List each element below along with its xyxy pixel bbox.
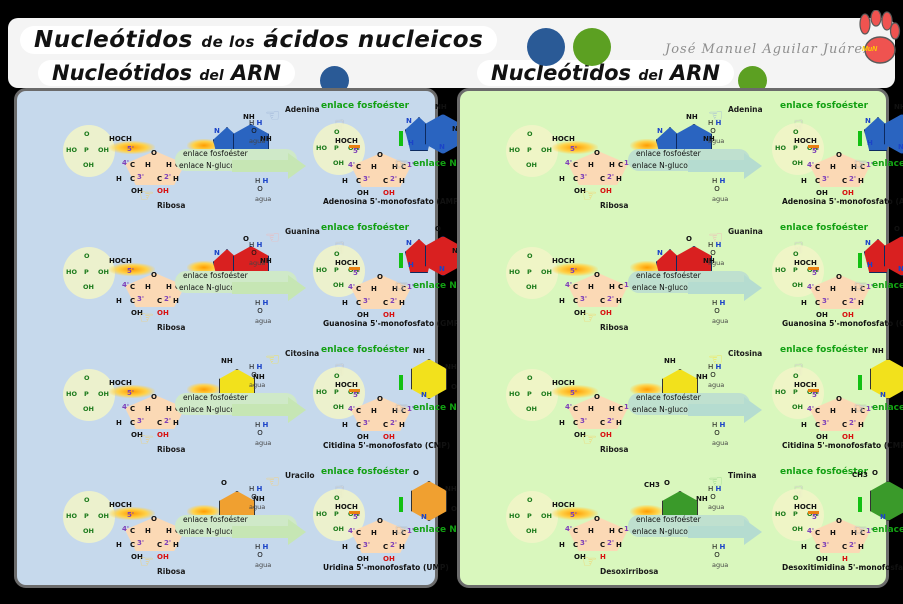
left-title-word1: Nucleótidos: [52, 61, 192, 85]
sugar-name-label: Ribosa: [600, 201, 628, 210]
pointer-hand-icon: ☞: [139, 187, 154, 204]
reaction-arrow: [232, 275, 306, 301]
pointer-hand-icon: ☞: [582, 553, 597, 570]
reaction-arrow: [232, 519, 306, 545]
base-name-label: Citosina: [728, 349, 762, 358]
reaction-arrow: [232, 397, 306, 423]
sugar-name-label: Ribosa: [157, 567, 185, 576]
poster-canvas: { "header": { "title_main_1": "Nucleótid…: [0, 0, 903, 604]
white-hand-icon: ☞: [395, 157, 408, 172]
n-glucosidic-bond-mark: [858, 131, 862, 146]
white-hand-icon: ☞: [854, 523, 867, 538]
sugar-name-label: Ribosa: [600, 445, 628, 454]
legend-dot-blue: [527, 28, 565, 66]
base-name-label: Adenina: [728, 105, 763, 114]
reaction-arrow: [688, 275, 762, 301]
product-bond-nglucosidic-label: enlace N-glucosídico: [872, 403, 903, 413]
white-hand-icon: ☞: [854, 157, 867, 172]
author-signature: José Manuel Aguilar Juárez: [665, 42, 871, 57]
product-name-label: Guanosina 5'-monofosfato (GMP): [782, 319, 903, 328]
product-name-label: Guanosina 5'-monofosfato (GMP): [323, 319, 463, 328]
product-bond-nglucosidic-label: enlace N-glucosídico: [872, 525, 903, 535]
reaction-arrow: [232, 153, 306, 179]
right-title-word1: Nucleótidos: [491, 61, 631, 85]
white-hand-icon: ☞: [395, 401, 408, 416]
n-glucosidic-bond-mark: [858, 375, 862, 390]
product-bond-phosphoester-label: enlace fosfoéster: [321, 101, 409, 111]
right-title-word2: del: [638, 68, 662, 84]
sugar-name-label: Ribosa: [157, 323, 185, 332]
white-hand-icon: ☞: [854, 279, 867, 294]
base-name-label: Adenina: [285, 105, 320, 114]
panel-right-arn: OHOPOHOHHOCH5'O4'CHHC1'HC3'C2'HOHOH☞Ribo…: [457, 88, 889, 588]
n-glucosidic-bond-mark: [399, 253, 403, 268]
sugar-name-label: Ribosa: [600, 323, 628, 332]
n-glucosidic-bond-mark: [858, 253, 862, 268]
product-bond-phosphoester-label: enlace fosfoéster: [780, 223, 868, 233]
reaction-row: OHOPOHOHHOCH5'O4'CHHC1'HC3'C2'HOHOH☞Ribo…: [460, 345, 886, 463]
reaction-arrow: [688, 153, 762, 179]
reaction-row: OHOPOHOHHOCH5'O4'CHHC1'HC3'C2'HOHOH☞Ribo…: [17, 101, 435, 219]
pointer-hand-icon: ☞: [582, 309, 597, 326]
product-name-label: Adenosina 5'-monofosfato (AMP): [782, 197, 903, 206]
pointer-hand-icon: ☜: [265, 229, 280, 246]
sugar-name-label: Ribosa: [157, 445, 185, 454]
product-name-label: Adenosina 5'-monofosfato (AMP): [323, 197, 462, 206]
base-name-label: Timina: [728, 471, 756, 480]
left-title-word3: ARN: [231, 61, 281, 85]
right-title-word3: ARN: [670, 61, 720, 85]
white-hand-icon: ☞: [395, 279, 408, 294]
product-bond-nglucosidic-label: enlace N-glucosídico: [872, 281, 903, 291]
reaction-row: OHOPOHOHHOCH5'O4'CHHC1'HC3'C2'HOHH☞Desox…: [460, 467, 886, 585]
reaction-row: OHOPOHOHHOCH5'O4'CHHC1'HC3'C2'HOHOH☞Ribo…: [460, 101, 886, 219]
pointer-hand-icon: ☞: [582, 431, 597, 448]
product-bond-phosphoester-label: enlace fosfoéster: [321, 467, 409, 477]
reaction-row: OHOPOHOHHOCH5'O4'CHHC1'HC3'C2'HOHOH☞Ribo…: [460, 223, 886, 341]
left-title-word2: del: [199, 68, 223, 84]
paw-logo-icon: [855, 10, 901, 66]
n-glucosidic-bond-mark: [399, 375, 403, 390]
poster-main-title: Nucleótidos de los ácidos nucleicos: [20, 26, 497, 54]
product-bond-nglucosidic-label: enlace N-glucosídico: [872, 159, 903, 169]
main-title-word1: Nucleótidos: [34, 27, 193, 53]
pointer-hand-icon: ☞: [139, 309, 154, 326]
legend-dot-green: [573, 28, 611, 66]
base-name-label: Guanina: [285, 227, 320, 236]
pointer-hand-icon: ☜: [265, 351, 280, 368]
main-title-word3: ácidos nucleicos: [263, 27, 483, 53]
base-name-label: Citosina: [285, 349, 319, 358]
reaction-row: OHOPOHOHHOCH5'O4'CHHC1'HC3'C2'HOHOH☞Ribo…: [17, 467, 435, 585]
n-glucosidic-bond-mark: [399, 497, 403, 512]
reaction-row: OHOPOHOHHOCH5'O4'CHHC1'HC3'C2'HOHOH☞Ribo…: [17, 223, 435, 341]
reaction-arrow: [688, 397, 762, 423]
n-glucosidic-bond-mark: [399, 131, 403, 146]
product-name-label: Uridina 5'-monofosfato (UMP): [323, 563, 449, 572]
paw-logo-text: MuN: [862, 46, 877, 53]
pointer-hand-icon: ☜: [265, 473, 280, 490]
base-name-label: Uracilo: [285, 471, 315, 480]
right-panel-title: Nucleótidos del ARN: [477, 60, 734, 86]
pointer-hand-icon: ☞: [139, 431, 154, 448]
white-hand-icon: ☞: [395, 523, 408, 538]
sugar-name-label: Ribosa: [157, 201, 185, 210]
n-glucosidic-bond-mark: [858, 497, 862, 512]
product-name-label: Citidina 5'-monofosfato (CMP): [782, 441, 903, 450]
product-bond-phosphoester-label: enlace fosfoéster: [321, 345, 409, 355]
pointer-hand-icon: ☞: [139, 553, 154, 570]
reaction-arrow: [688, 519, 762, 545]
pointer-hand-icon: ☞: [582, 187, 597, 204]
product-bond-phosphoester-label: enlace fosfoéster: [780, 101, 868, 111]
base-name-label: Guanina: [728, 227, 763, 236]
left-panel-title: Nucleótidos del ARN: [38, 60, 295, 86]
product-bond-phosphoester-label: enlace fosfoéster: [321, 223, 409, 233]
white-hand-icon: ☞: [854, 401, 867, 416]
main-title-word2: de los: [201, 33, 255, 51]
product-name-label: Desoxitimidina 5'-monofosfato (dTMP): [782, 563, 903, 572]
panel-left-arn: OHOPOHOHHOCH5'O4'CHHC1'HC3'C2'HOHOH☞Ribo…: [14, 88, 438, 588]
reaction-row: OHOPOHOHHOCH5'O4'CHHC1'HC3'C2'HOHOH☞Ribo…: [17, 345, 435, 463]
pointer-hand-icon: ☜: [265, 107, 280, 124]
product-bond-phosphoester-label: enlace fosfoéster: [780, 345, 868, 355]
product-name-label: Citidina 5'-monofosfato (CMP): [323, 441, 450, 450]
sugar-name-label: Desoxirribosa: [600, 567, 658, 576]
